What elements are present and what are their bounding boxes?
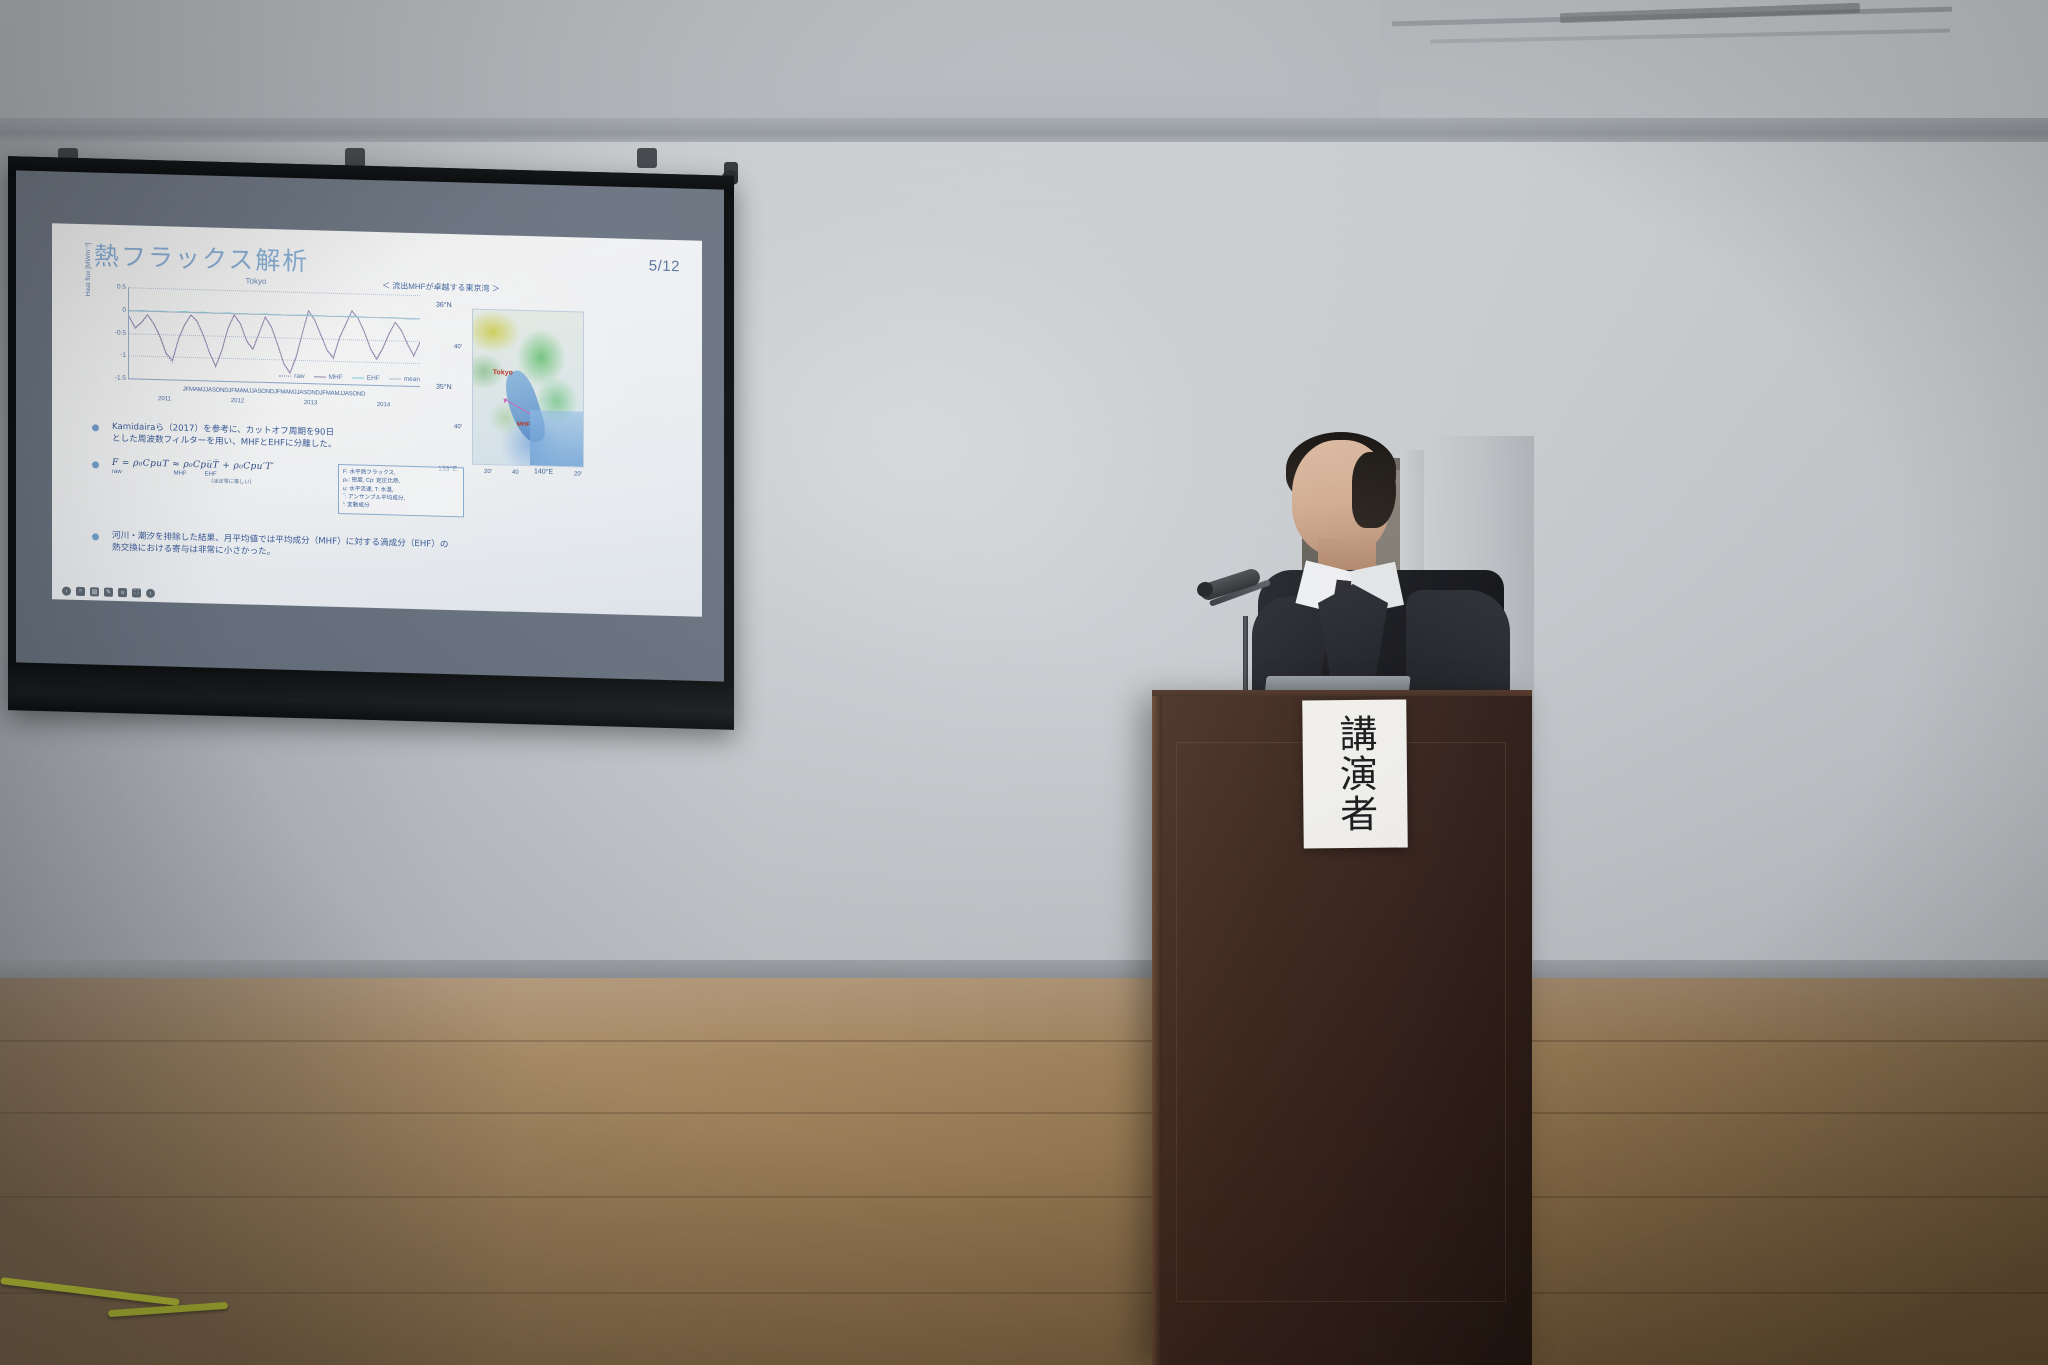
chart-plot-area: 0.50-0.5-1-1.5 — [128, 287, 420, 387]
chart-year-label: 2013 — [274, 399, 347, 407]
map-lat-40a: 40' — [454, 344, 462, 350]
chart-legend-item-raw: raw — [279, 372, 304, 380]
chart-series-MHF — [129, 305, 420, 376]
prev-icon[interactable]: ‹ — [62, 586, 71, 595]
bullet-dot-icon — [92, 533, 99, 540]
chart-y-tick: -0.5 — [115, 329, 126, 336]
chart-legend-label: MHF — [329, 374, 343, 381]
bullet-item-1: Kamidairaら（2017）を参考に、カットオフ周期を90日 とした周波数フ… — [86, 420, 682, 461]
presenter-hair-side — [1352, 452, 1396, 528]
chart-series-raw — [129, 305, 420, 377]
legend-swatch-icon — [389, 378, 401, 379]
chart-legend-label: EHF — [367, 375, 380, 382]
chart-y-tick: -1 — [120, 352, 126, 359]
chart-y-axis-label: Heat flux [MWm⁻²] — [84, 223, 92, 296]
speaker-sign: 講演者 — [1302, 699, 1408, 848]
chart-legend-item-mean: mean — [389, 375, 420, 383]
bullet-item-formula: F = ρ₀CpuT ≈ ρ₀Cpu̅T̅ + ρ₀Cpu′T′ raw MHF… — [86, 457, 682, 527]
map-lat-36n: 36°N — [436, 302, 452, 309]
pen-icon[interactable]: ✎ — [104, 588, 113, 597]
chart-y-tick: 0 — [122, 306, 126, 313]
bullet-dot-icon — [92, 461, 99, 468]
chart-y-tick: 0.5 — [117, 283, 126, 290]
screen-mount-right — [637, 148, 657, 168]
chart-legend-label: mean — [404, 376, 420, 383]
floor-reflection — [0, 978, 2048, 1365]
speaker-sign-text: 講演者 — [1335, 714, 1375, 834]
slide-page-number: 5/12 — [649, 257, 680, 275]
menu-icon[interactable]: ≡ — [118, 588, 127, 597]
chart-year-label: 2012 — [201, 397, 274, 405]
chart-series-mean — [129, 311, 420, 319]
slide-bullet-list: Kamidairaら（2017）を参考に、カットオフ周期を90日 とした周波数フ… — [86, 420, 682, 576]
podium-left-edge — [1152, 696, 1162, 1365]
bullet-dot-icon — [92, 424, 99, 431]
formula-legend-line: ′: 変動成分 — [343, 502, 459, 514]
formula-variable-legend: F: 水平熱フラックス,ρ₀: 密度, Cp: 定圧比熱,u: 水平流速, T:… — [338, 464, 464, 517]
chart-legend-item-EHF: EHF — [352, 374, 380, 382]
presentation-slide[interactable]: 熱フラックス解析 5/12 Tokyo Heat flux [MWm⁻²] 0.… — [52, 223, 702, 617]
slide-control-bar[interactable]: ‹⌕▤✎≡⛶› — [62, 586, 155, 598]
chart-legend-label: raw — [294, 373, 304, 380]
chart-y-tick: -1.5 — [115, 374, 126, 381]
map-lat-35n: 35°N — [436, 384, 452, 391]
chart-legend-item-MHF: MHF — [314, 373, 343, 381]
legend-swatch-icon — [279, 375, 291, 376]
map-label-mhf: MHF — [517, 422, 530, 428]
next-icon[interactable]: › — [146, 589, 155, 598]
bullet-item-2: 河川・潮汐を排除した結果、月平均値では平均成分（MHF）に対する渦成分（EHF）… — [86, 529, 682, 570]
search-icon[interactable]: ⌕ — [76, 587, 85, 596]
screenshot-scene: 熱フラックス解析 5/12 Tokyo Heat flux [MWm⁻²] 0.… — [0, 0, 2048, 1365]
legend-swatch-icon — [352, 377, 364, 378]
chart-year-label: 2014 — [347, 401, 420, 409]
slide-title: 熱フラックス解析 — [94, 236, 309, 278]
fullscreen-icon[interactable]: ⛶ — [132, 588, 141, 597]
formula-term-raw: raw — [112, 469, 122, 475]
heat-flux-chart: Tokyo Heat flux [MWm⁻²] 0.50-0.5-1-1.5 J… — [90, 282, 422, 409]
ceiling-trim — [0, 118, 2048, 144]
formula-term-mhf: MHF — [174, 470, 187, 476]
chart-series-svg — [129, 287, 420, 386]
legend-swatch-icon — [314, 376, 326, 377]
map-label-tokyo: Tokyo — [493, 369, 513, 377]
chart-year-label: 2011 — [128, 395, 201, 403]
grid-icon[interactable]: ▤ — [90, 587, 99, 596]
